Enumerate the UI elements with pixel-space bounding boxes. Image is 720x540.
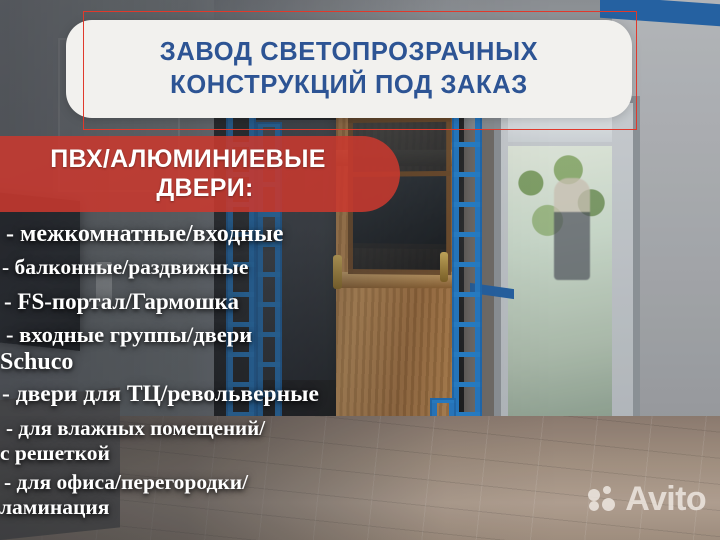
ribbon-line-1: ПВХ/АЛЮМИНИЕВЫЕ xyxy=(50,145,326,175)
avito-watermark: Avito xyxy=(588,482,706,516)
headline-line-2: КОНСТРУКЦИЙ ПОД ЗАКАЗ xyxy=(170,69,528,102)
list-item: - двери для ТЦ/револьверные xyxy=(0,383,470,407)
list-item: - межкомнатные/входные xyxy=(0,222,470,246)
list-item: - балконные/раздвижные xyxy=(0,257,470,279)
list-item: - FS-портал/Гармошка xyxy=(0,290,470,313)
list-item: - для влажных помещений/ xyxy=(0,418,470,439)
list-item: - входные группы/двери xyxy=(0,324,470,347)
list-item: - для офиса/перегородки/ xyxy=(0,472,470,494)
category-ribbon: ПВХ/АЛЮМИНИЕВЫЕ ДВЕРИ: xyxy=(0,136,400,212)
list-item: с решеткой xyxy=(0,443,470,465)
list-item: ламинация xyxy=(0,497,470,519)
services-list: - межкомнатные/входные - балконные/раздв… xyxy=(0,222,470,518)
headline-line-1: ЗАВОД СВЕТОПРОЗРАЧНЫХ xyxy=(160,36,539,69)
advert-banner: ЗАВОД СВЕТОПРОЗРАЧНЫХ КОНСТРУКЦИЙ ПОД ЗА… xyxy=(0,0,720,540)
list-item: Schuco xyxy=(0,350,470,374)
avito-wordmark: Avito xyxy=(625,482,706,516)
headline-card: ЗАВОД СВЕТОПРОЗРАЧНЫХ КОНСТРУКЦИЙ ПОД ЗА… xyxy=(66,20,632,118)
ribbon-line-2: ДВЕРИ: xyxy=(122,174,253,204)
avito-dots-icon xyxy=(588,486,618,512)
